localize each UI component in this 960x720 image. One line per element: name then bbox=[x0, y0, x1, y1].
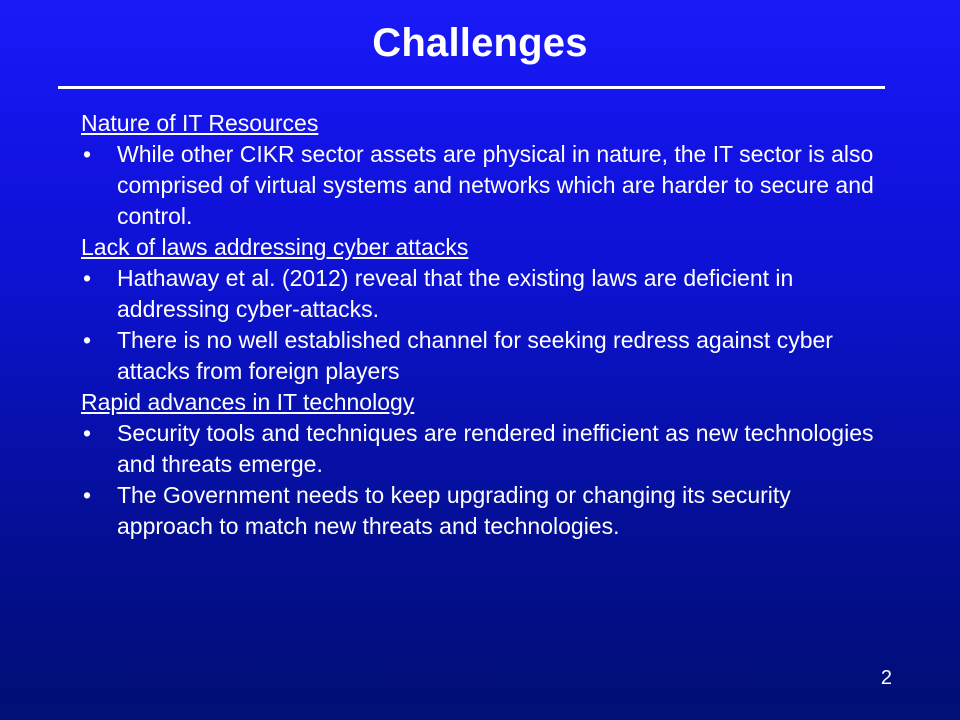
list-item: • Hathaway et al. (2012) reveal that the… bbox=[81, 263, 881, 325]
bullet-text: Security tools and techniques are render… bbox=[117, 418, 881, 480]
slide-title-block: Challenges bbox=[0, 20, 960, 66]
slide-body: Nature of IT Resources • While other CIK… bbox=[81, 108, 881, 542]
list-item: • Security tools and techniques are rend… bbox=[81, 418, 881, 480]
bullet-point-icon: • bbox=[83, 325, 103, 356]
bullet-text: The Government needs to keep upgrading o… bbox=[117, 480, 881, 542]
content-section: Rapid advances in IT technology • Securi… bbox=[81, 387, 881, 542]
bullet-list: • Security tools and techniques are rend… bbox=[81, 418, 881, 542]
section-heading: Lack of laws addressing cyber attacks bbox=[81, 232, 881, 263]
list-item: • While other CIKR sector assets are phy… bbox=[81, 139, 881, 232]
bullet-point-icon: • bbox=[83, 418, 103, 449]
bullet-point-icon: • bbox=[83, 263, 103, 294]
content-section: Nature of IT Resources • While other CIK… bbox=[81, 108, 881, 232]
slide-number: 2 bbox=[881, 666, 892, 690]
presentation-slide: Challenges Nature of IT Resources • Whil… bbox=[0, 0, 960, 720]
bullet-list: • While other CIKR sector assets are phy… bbox=[81, 139, 881, 232]
bullet-text: Hathaway et al. (2012) reveal that the e… bbox=[117, 263, 881, 325]
page-title: Challenges bbox=[0, 20, 960, 66]
section-heading: Nature of IT Resources bbox=[81, 108, 881, 139]
section-heading: Rapid advances in IT technology bbox=[81, 387, 881, 418]
bullet-point-icon: • bbox=[83, 139, 103, 170]
bullet-list: • Hathaway et al. (2012) reveal that the… bbox=[81, 263, 881, 387]
title-divider bbox=[58, 86, 885, 89]
list-item: • The Government needs to keep upgrading… bbox=[81, 480, 881, 542]
bullet-text: While other CIKR sector assets are physi… bbox=[117, 139, 881, 232]
bullet-text: There is no well established channel for… bbox=[117, 325, 881, 387]
content-section: Lack of laws addressing cyber attacks • … bbox=[81, 232, 881, 387]
list-item: • There is no well established channel f… bbox=[81, 325, 881, 387]
bullet-point-icon: • bbox=[83, 480, 103, 511]
